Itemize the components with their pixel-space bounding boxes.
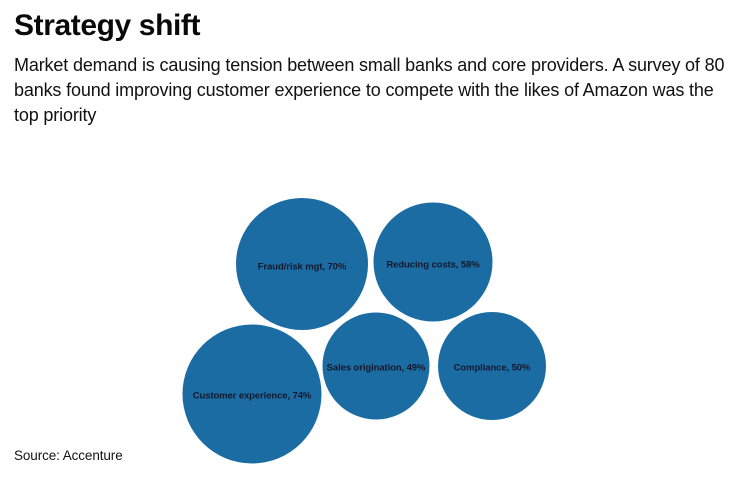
bubble-chart: Fraud/risk mgt, 70%Reducing costs, 58%Cu… <box>0 0 740 491</box>
bubble-label: Sales origination, 49% <box>327 363 426 374</box>
bubble-label: Customer experience, 74% <box>193 391 312 402</box>
bubble[interactable]: Customer experience, 74% <box>183 325 322 464</box>
infographic-page: Strategy shift Market demand is causing … <box>0 0 740 491</box>
bubble[interactable]: Sales origination, 49% <box>323 313 430 420</box>
bubble[interactable]: Fraud/risk mgt, 70% <box>236 198 368 330</box>
bubble-label: Fraud/risk mgt, 70% <box>258 262 347 273</box>
bubble[interactable]: Compliance, 50% <box>438 312 546 420</box>
bubble[interactable]: Reducing costs, 58% <box>374 203 493 322</box>
bubble-label: Reducing costs, 58% <box>386 260 480 271</box>
bubble-label: Compliance, 50% <box>454 363 531 374</box>
source-caption: Source: Accenture <box>14 448 123 463</box>
bubble-chart-svg: Fraud/risk mgt, 70%Reducing costs, 58%Cu… <box>0 0 740 491</box>
bubble-group: Fraud/risk mgt, 70%Reducing costs, 58%Cu… <box>183 198 547 464</box>
